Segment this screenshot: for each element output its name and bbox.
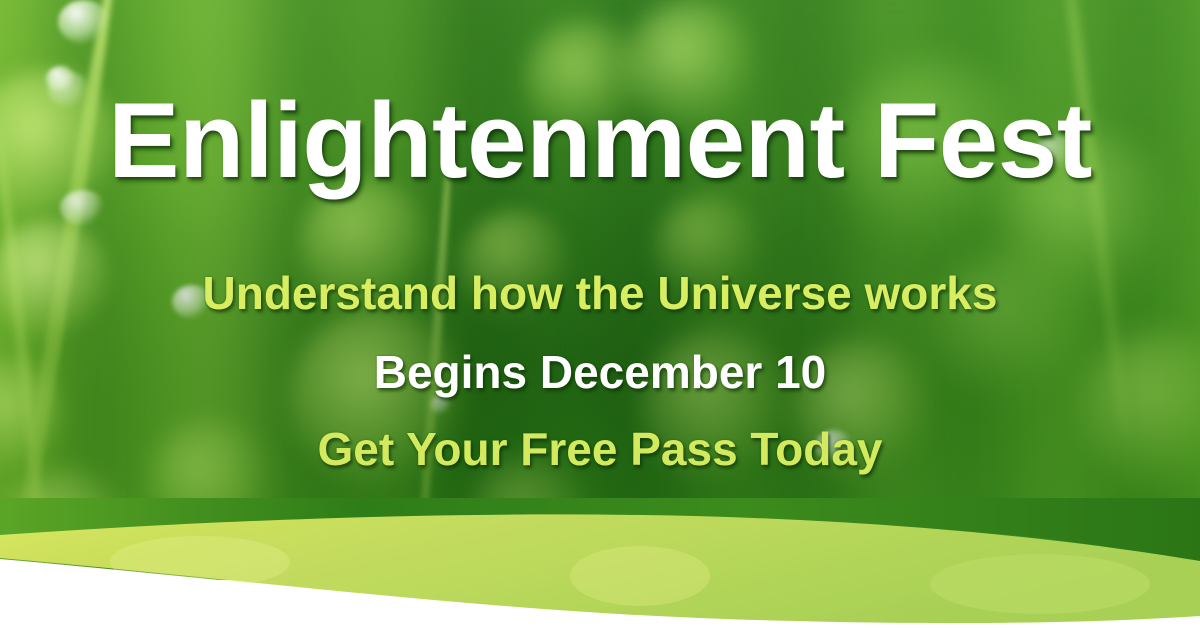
banner-content: Enlightenment Fest Understand how the Un… <box>0 0 1200 628</box>
call-to-action-line[interactable]: Get Your Free Pass Today <box>0 424 1200 475</box>
tagline-line-1: Understand how the Universe works <box>0 268 1200 319</box>
start-date-line: Begins December 10 <box>0 347 1200 398</box>
page-title: Enlightenment Fest <box>0 84 1200 196</box>
promotional-banner: Enlightenment Fest Understand how the Un… <box>0 0 1200 628</box>
